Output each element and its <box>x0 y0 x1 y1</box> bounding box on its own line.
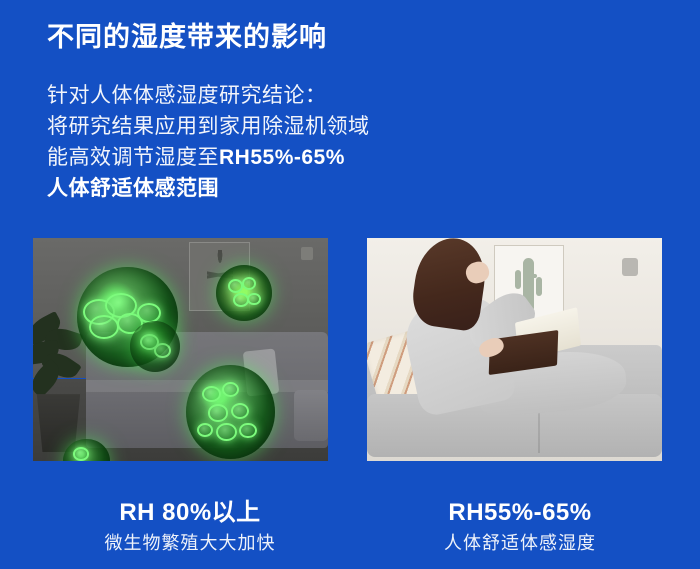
microbe-cluster-lower-right <box>186 365 275 459</box>
room-scene-dim <box>33 238 328 461</box>
hair <box>409 238 490 333</box>
page-title: 不同的湿度带来的影响 <box>47 19 327 55</box>
microbe-cell <box>202 386 221 402</box>
microbe-cell <box>222 382 239 397</box>
photo-row <box>0 238 700 461</box>
caption-subtitle: 人体舒适体感湿度 <box>350 531 690 555</box>
microbe-cell <box>89 315 119 339</box>
microbe-cell <box>231 403 249 419</box>
caption-title: RH 80%以上 <box>20 498 360 528</box>
microbe-cell <box>154 343 171 358</box>
description-line-1: 针对人体体感湿度研究结论： <box>47 80 447 111</box>
caption-high-humidity: RH 80%以上 微生物繁殖大大加快 <box>20 498 360 555</box>
description-block: 针对人体体感湿度研究结论： 将研究结果应用到家用除湿机领域 能高效调节湿度至RH… <box>47 80 447 204</box>
microbe-cell <box>242 277 256 290</box>
wall-switch <box>301 247 313 260</box>
microbe-cluster-upper-right <box>216 265 272 321</box>
room-scene-bright <box>367 238 662 461</box>
microbe-cell <box>216 423 237 441</box>
humidity-range-highlight: RH55%-65% <box>219 146 345 169</box>
microbe-cell <box>197 423 213 437</box>
description-line-2: 将研究结果应用到家用除湿机领域 <box>47 111 447 142</box>
woman-reading <box>397 238 627 412</box>
photo-high-humidity <box>33 238 328 461</box>
microbe-cell <box>247 293 261 305</box>
microbe-cell <box>239 423 256 438</box>
caption-subtitle: 微生物繁殖大大加快 <box>20 531 360 555</box>
description-line-3: 能高效调节湿度至RH55%-65% <box>47 142 447 173</box>
caption-comfort-humidity: RH55%-65% 人体舒适体感湿度 <box>350 498 690 555</box>
microbe-cell <box>73 447 89 461</box>
description-line-4: 人体舒适体感范围 <box>47 173 447 204</box>
sofa-arm <box>294 390 328 441</box>
photo-comfort-humidity <box>367 238 662 461</box>
microbe-cell <box>208 404 228 421</box>
description-line-3-regular: 能高效调节湿度至 <box>47 146 219 169</box>
microbe-cell <box>137 303 161 323</box>
humidity-poster: 不同的湿度带来的影响 针对人体体感湿度研究结论： 将研究结果应用到家用除湿机领域… <box>0 0 700 569</box>
microbe-cluster-edge <box>130 321 180 372</box>
caption-title: RH55%-65% <box>350 498 690 528</box>
